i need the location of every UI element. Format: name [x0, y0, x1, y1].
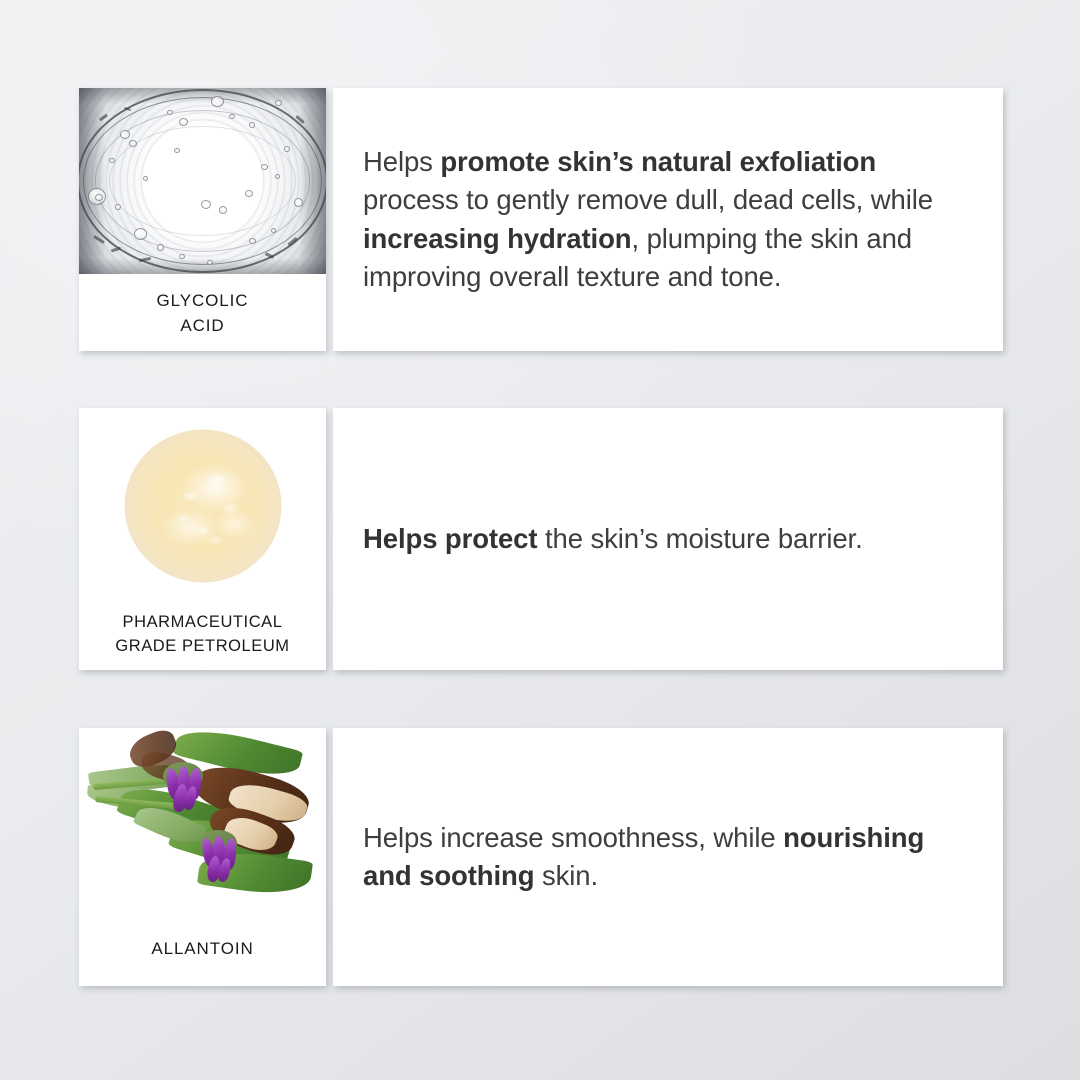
bubble — [284, 146, 290, 152]
bubble — [261, 164, 268, 170]
allantoin-image — [79, 728, 326, 914]
ingredient-benefit-board: GLYCOLIC ACID Helps promote skin’s natur… — [0, 0, 1080, 1080]
ingredient-copy-card-petroleum: Helps protect the skin’s moisture barrie… — [333, 408, 1003, 670]
bubble — [167, 110, 173, 115]
ingredient-image-card-allantoin: ALLANTOIN — [79, 728, 326, 986]
bubble — [294, 198, 303, 207]
bubble — [143, 176, 148, 181]
petroleum-image — [79, 408, 326, 604]
dish-shadow-bottom — [79, 258, 326, 274]
bubble — [179, 118, 188, 126]
bubble — [95, 194, 103, 201]
ingredient-description-glycolic-acid: Helps promote skin’s natural exfoliation… — [363, 143, 969, 295]
dish-rim-mid — [83, 97, 322, 265]
gel-ripple-inner — [109, 126, 296, 236]
bubble — [157, 244, 164, 251]
bubble — [174, 148, 180, 153]
ingredient-description-allantoin: Helps increase smoothness, while nourish… — [363, 819, 969, 895]
bubble — [207, 260, 213, 265]
bubble — [271, 228, 276, 233]
bubble — [245, 190, 253, 197]
gel-dish-graphic — [79, 88, 326, 274]
ingredient-image-card-glycolic-acid: GLYCOLIC ACID — [79, 88, 326, 351]
bubble — [275, 100, 282, 106]
bubble — [201, 200, 211, 209]
ingredient-name-glycolic-acid: GLYCOLIC ACID — [79, 274, 326, 351]
bubble — [109, 158, 115, 163]
dish-shadow-top — [79, 88, 326, 104]
speck — [287, 237, 297, 246]
speck — [111, 247, 121, 253]
ingredient-name-petroleum: PHARMACEUTICAL GRADE PETROLEUM — [79, 604, 326, 670]
dish-shadow-right — [300, 88, 326, 274]
ingredient-copy-card-glycolic-acid: Helps promote skin’s natural exfoliation… — [333, 88, 1003, 351]
bubble — [249, 238, 256, 244]
bubble — [115, 204, 121, 210]
bubble — [219, 206, 227, 214]
bubble — [179, 254, 185, 259]
speck — [124, 107, 131, 111]
ingredient-description-petroleum: Helps protect the skin’s moisture barrie… — [363, 520, 863, 558]
bubble — [120, 130, 130, 139]
ingredient-copy-card-allantoin: Helps increase smoothness, while nourish… — [333, 728, 1003, 986]
bubble — [211, 96, 224, 107]
bubble — [134, 228, 147, 240]
bubble — [129, 140, 137, 147]
comfrey-plant-graphic — [79, 728, 326, 914]
ingredient-image-card-petroleum: PHARMACEUTICAL GRADE PETROLEUM — [79, 408, 326, 670]
bubble — [275, 174, 280, 179]
jelly-highlights — [140, 445, 266, 567]
glycolic-acid-image — [79, 88, 326, 274]
bubble — [229, 114, 235, 119]
bubble — [249, 122, 255, 128]
petroleum-jelly-blob — [124, 430, 281, 583]
ingredient-name-allantoin: ALLANTOIN — [79, 914, 326, 986]
